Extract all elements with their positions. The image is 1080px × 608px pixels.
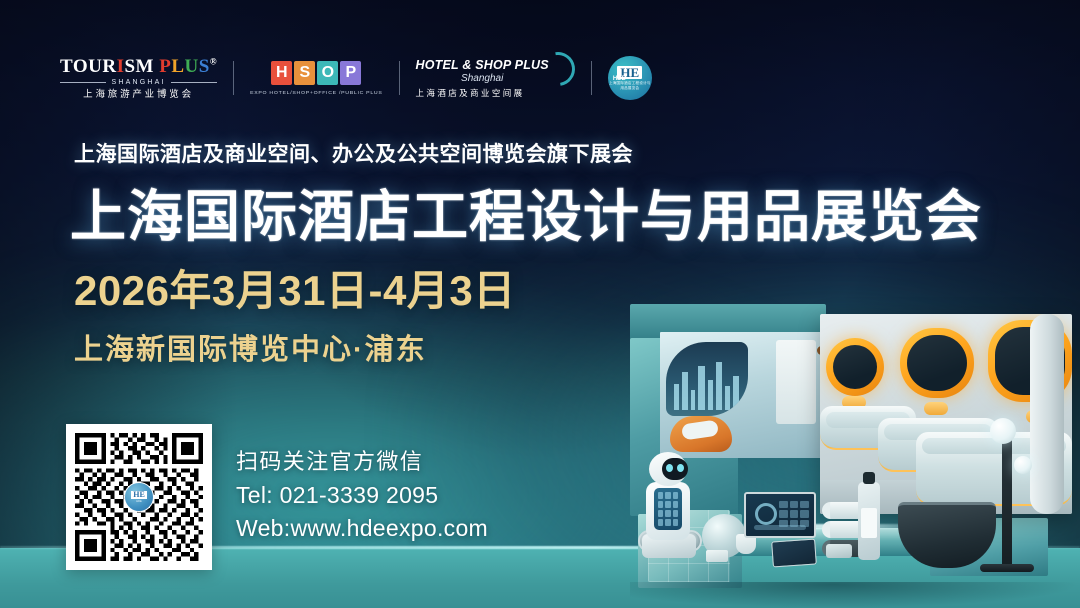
floor-lamp — [1002, 436, 1012, 566]
hde-chinese: 上海国际酒店工程设计与用品展览会 — [608, 81, 652, 90]
hde-abbr: HDE — [613, 76, 626, 82]
robot-head — [649, 452, 687, 486]
wechat-qr-code[interactable]: HE HDE — [66, 424, 212, 570]
tourism-chinese-label: 上海旅游产业博览会 — [83, 90, 194, 100]
contact-block: 扫码关注官方微信 Tel: 021-3339 2095 Web:www.hdee… — [236, 444, 488, 542]
hsop-subtitle: EXPO HOTEL/SHOP+OFFICE /PUBLIC PLUS — [250, 90, 382, 96]
sleep-pod-1 — [826, 338, 884, 396]
tourism-plus-shanghai-logo[interactable]: TOURISM PLUS® SHANGHAI 上海旅游产业博览会 — [60, 52, 217, 104]
smart-control-tablet — [744, 492, 816, 538]
tourism-word-plus: PLUS — [159, 56, 210, 77]
exhibition-banner: TOURISM PLUS® SHANGHAI 上海旅游产业博览会 H S O P… — [0, 0, 1080, 608]
tourism-rule: SHANGHAI — [60, 79, 217, 86]
city-view-window — [666, 342, 748, 416]
hotel-shop-plus-city: Shanghai — [461, 73, 503, 84]
robot-face — [662, 458, 688, 480]
hsop-tile-s: S — [294, 61, 315, 85]
sleep-pod-2 — [900, 328, 974, 398]
bottle-cap — [863, 472, 875, 484]
kicker-text: 上海国际酒店及商业空间、办公及公共空间博览会旗下展会 — [74, 138, 633, 168]
qr-center-logo: HE HDE — [124, 482, 154, 512]
amenity-soap-bar — [826, 544, 852, 558]
product-shadow — [630, 582, 1080, 608]
lamp-globe-lower — [1014, 456, 1032, 474]
tourism-plus-wordmark: TOURISM PLUS® — [60, 57, 217, 76]
logo-divider-1 — [233, 61, 234, 95]
qr-center-abbr: HDE — [136, 500, 141, 503]
hotel-suite-interior-photo — [660, 332, 840, 458]
hotel-shop-plus-english: HOTEL & SHOP PLUS — [416, 58, 549, 72]
event-venue: 上海新国际博览中心·浦东 — [74, 326, 427, 368]
contact-tel: Tel: 021-3339 2095 — [236, 482, 488, 509]
pod-support-column — [1030, 314, 1064, 514]
hde-badge-logo[interactable]: HDE HE 上海国际酒店工程设计与用品展览会 — [608, 52, 652, 104]
hotel-shop-plus-chinese: 上海酒店及商业空间展 — [416, 87, 525, 99]
trademark-symbol: ® — [210, 56, 217, 66]
qr-canvas: HE HDE — [75, 433, 203, 561]
hsop-tile-o: O — [317, 61, 338, 85]
logo-divider-2 — [399, 61, 400, 95]
tablet-dial-icon — [755, 503, 777, 525]
contact-web: Web:www.hdeexpo.com — [236, 515, 488, 542]
wechat-prompt: 扫码关注官方微信 — [236, 444, 488, 476]
qr-center-mark: HE — [131, 491, 147, 499]
logo-divider-3 — [591, 61, 592, 95]
tourism-word-tour: TOUR — [60, 56, 117, 77]
lamp-globe-upper — [990, 418, 1016, 444]
page-title: 上海国际酒店工程设计与用品展览会 — [70, 186, 982, 248]
hsop-letter-tiles: H S O P — [271, 61, 361, 85]
partner-logo-bar: TOURISM PLUS® SHANGHAI 上海旅游产业博览会 H S O P… — [60, 52, 652, 104]
tablet-slider — [754, 525, 806, 530]
tourism-city-label: SHANGHAI — [111, 79, 165, 86]
robot-body — [646, 482, 690, 540]
orange-lounge-chair — [670, 416, 732, 452]
hsop-logo[interactable]: H S O P EXPO HOTEL/SHOP+OFFICE /PUBLIC P… — [250, 52, 382, 104]
amenity-bottle — [858, 482, 880, 560]
amenity-soap-block — [706, 550, 728, 562]
robot-screen — [654, 488, 682, 530]
bottle-label — [861, 508, 877, 538]
tourism-word-sm: SM — [124, 56, 154, 77]
hsop-tile-h: H — [271, 61, 292, 85]
hotel-engineering-product-collage — [630, 296, 1080, 608]
hotel-shop-plus-logo[interactable]: HOTEL & SHOP PLUS Shanghai 上海酒店及商业空间展 — [416, 52, 575, 104]
service-robot — [642, 452, 696, 562]
tablet-keypad-icon — [779, 501, 809, 527]
swoosh-arc-icon — [534, 45, 581, 92]
pod-pillow-2 — [924, 402, 948, 415]
event-date: 2026年3月31日-4月3日 — [74, 268, 516, 314]
hsop-tile-p: P — [340, 61, 361, 85]
smartphone — [771, 538, 817, 567]
room-door — [776, 340, 816, 424]
